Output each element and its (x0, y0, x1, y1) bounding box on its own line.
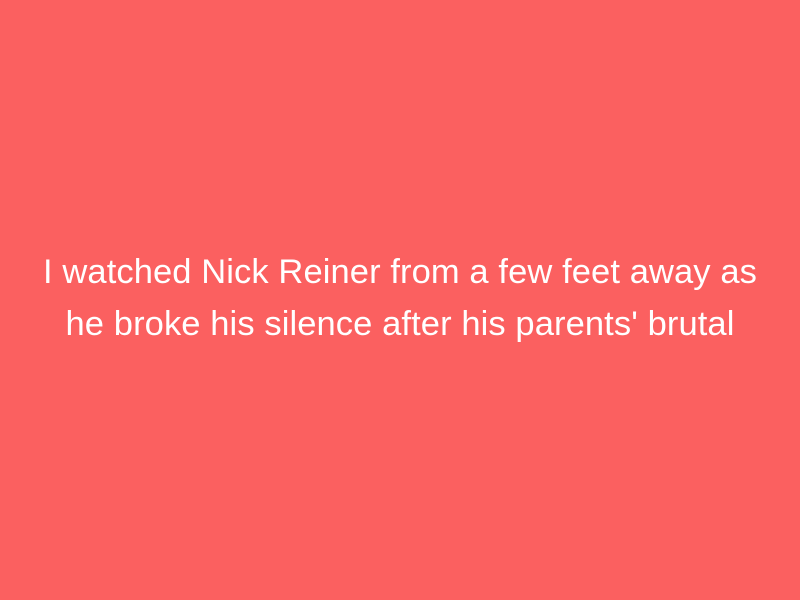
headline-inner: I watched Nick Reiner from a few feet aw… (36, 246, 764, 350)
share-card: I watched Nick Reiner from a few feet aw… (0, 0, 800, 600)
headline-block: I watched Nick Reiner from a few feet aw… (0, 0, 800, 600)
headline-line-1: I watched Nick Reiner from a few feet aw… (36, 246, 764, 298)
headline-line-2: he broke his silence after his parents' … (36, 298, 764, 350)
